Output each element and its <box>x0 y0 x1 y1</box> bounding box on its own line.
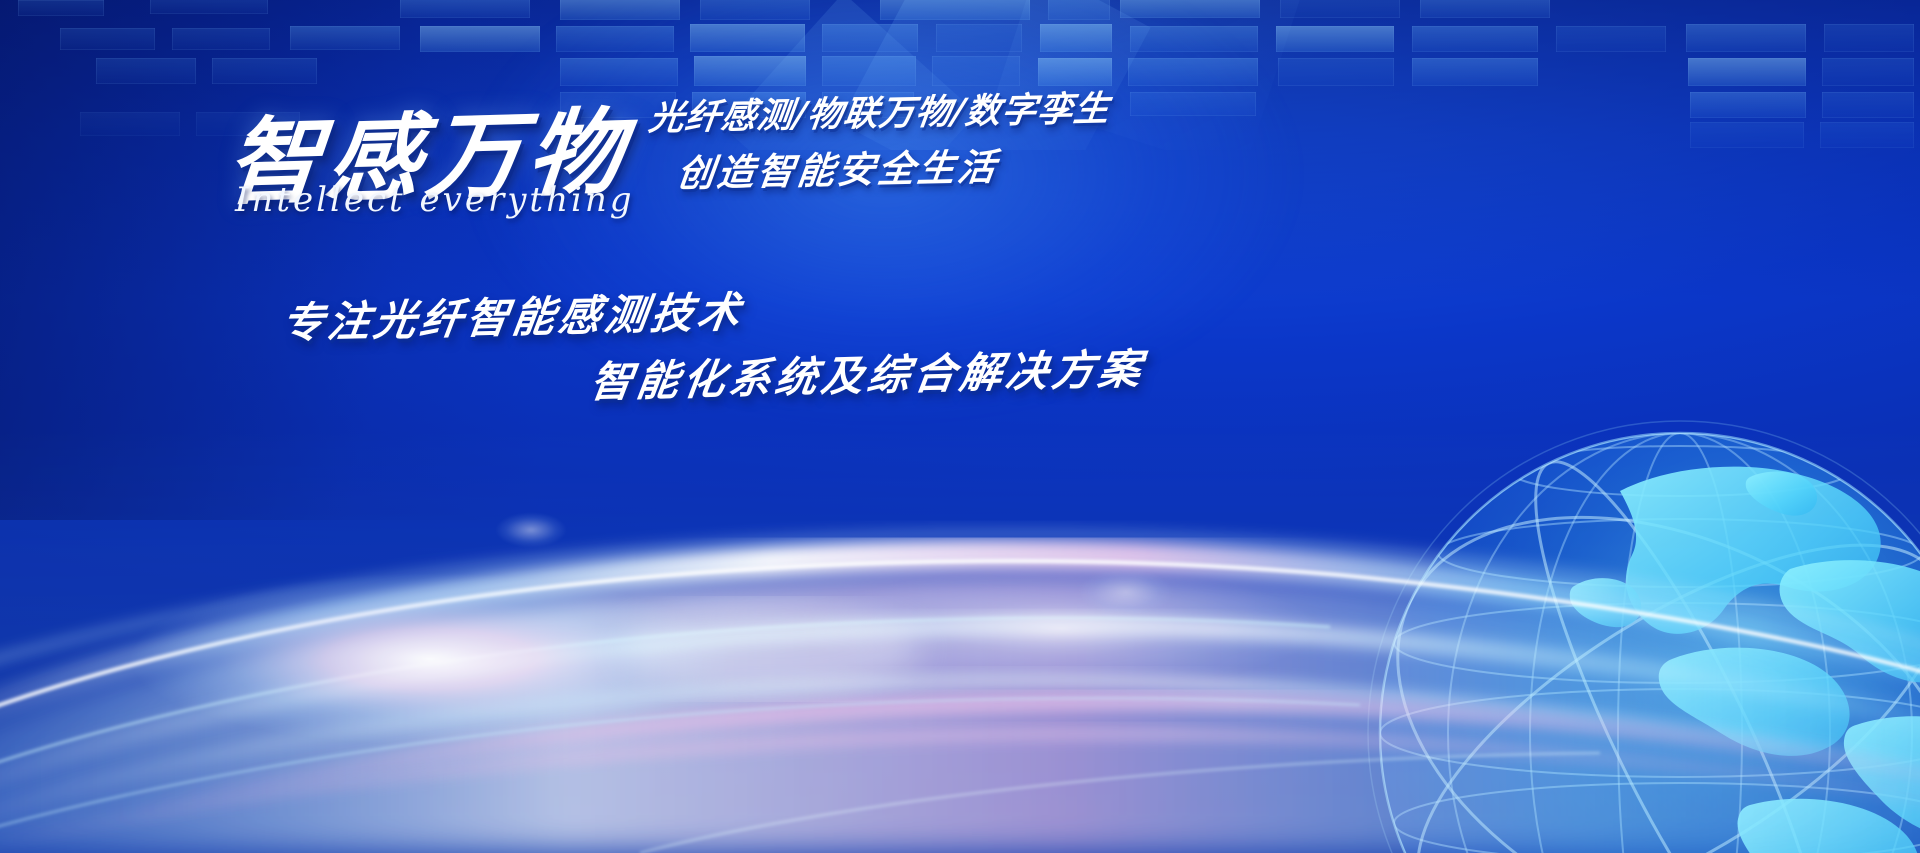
message-line-2: 智能化系统及综合解决方案 <box>587 335 1149 409</box>
message-line-1: 专注光纤智能感测技术 <box>278 278 748 350</box>
tagline-line-2: 创造智能安全生活 <box>674 137 1001 198</box>
tagline-line-1: 光纤感测/物联万物/数字孪生 <box>646 80 1113 141</box>
text-layer: 智感万物 Intellect everything 光纤感测/物联万物/数字孪生… <box>0 0 1920 853</box>
page-subtitle: Intellect everything <box>235 180 635 220</box>
banner-stage: 智感万物 Intellect everything 光纤感测/物联万物/数字孪生… <box>0 0 1920 853</box>
